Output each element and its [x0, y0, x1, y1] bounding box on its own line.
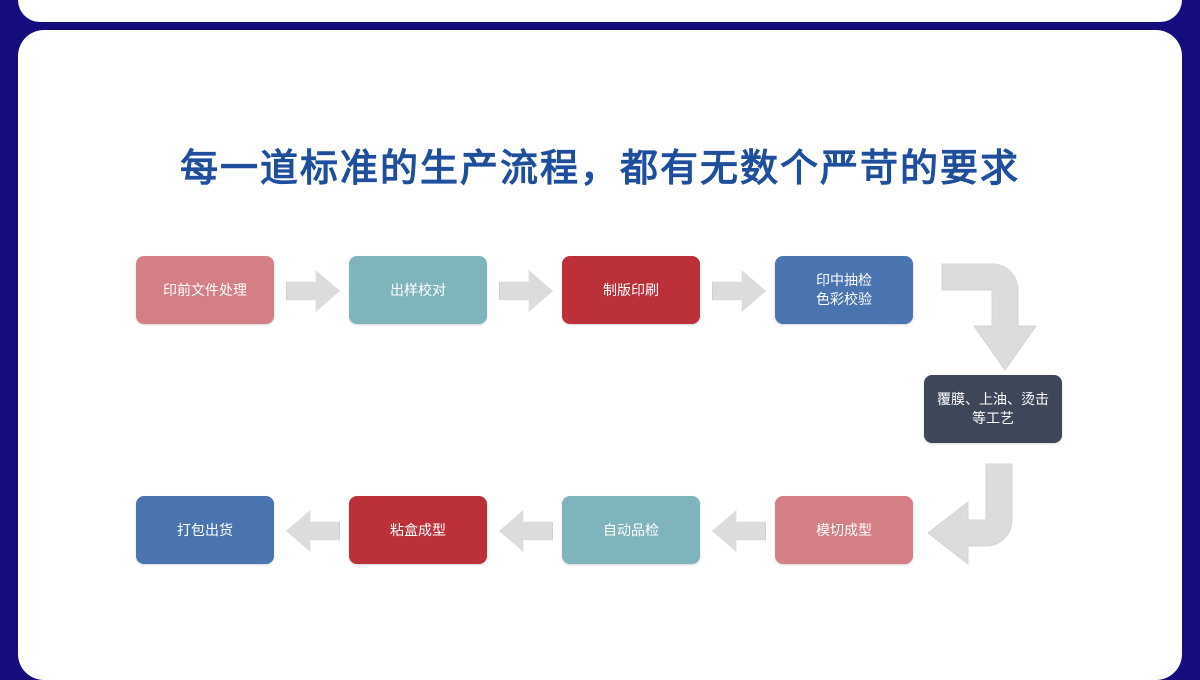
- arrow-left-icon-gluing-to-shipping: [286, 510, 340, 552]
- flow-node-finishing[interactable]: 覆膜、上油、烫击 等工艺: [924, 375, 1062, 443]
- flow-node-diecut[interactable]: 模切成型: [775, 496, 913, 564]
- flow-node-label: 制版印刷: [603, 281, 659, 300]
- flow-node-label: 模切成型: [816, 521, 872, 540]
- arrow-left-icon-autoqc-to-gluing: [499, 510, 553, 552]
- flow-node-platemaking[interactable]: 制版印刷: [562, 256, 700, 324]
- page-title: 每一道标准的生产流程，都有无数个严苛的要求: [18, 137, 1182, 192]
- flow-node-label: 覆膜、上油、烫击 等工艺: [937, 390, 1049, 428]
- arrow-right-icon-platemaking-to-inspection: [712, 270, 766, 312]
- flow-node-proofing[interactable]: 出样校对: [349, 256, 487, 324]
- flow-node-autoqc[interactable]: 自动品检: [562, 496, 700, 564]
- arrow-left-icon-diecut-to-autoqc: [712, 510, 766, 552]
- previous-slide-card-edge: [18, 0, 1182, 22]
- flow-node-gluing[interactable]: 粘盒成型: [349, 496, 487, 564]
- flow-node-inspection[interactable]: 印中抽检 色彩校验: [775, 256, 913, 324]
- flow-node-label: 出样校对: [390, 281, 446, 300]
- arrow-right-icon-prepress-to-proofing: [286, 270, 340, 312]
- slide-card: 每一道标准的生产流程，都有无数个严苛的要求 印前文件处理 出样校对 制版印刷 印…: [18, 30, 1182, 680]
- arrow-elbow-down-icon-inspection-to-finishing: [940, 262, 1040, 374]
- arrow-elbow-left-icon-finishing-to-diecut: [926, 462, 1038, 574]
- flow-node-prepress[interactable]: 印前文件处理: [136, 256, 274, 324]
- flow-node-label: 印前文件处理: [163, 281, 247, 300]
- arrow-right-icon-proofing-to-platemaking: [499, 270, 553, 312]
- flow-node-label: 打包出货: [177, 521, 233, 540]
- flow-node-label: 印中抽检 色彩校验: [816, 271, 872, 309]
- flow-node-label: 粘盒成型: [390, 521, 446, 540]
- flow-node-label: 自动品检: [603, 521, 659, 540]
- flow-node-shipping[interactable]: 打包出货: [136, 496, 274, 564]
